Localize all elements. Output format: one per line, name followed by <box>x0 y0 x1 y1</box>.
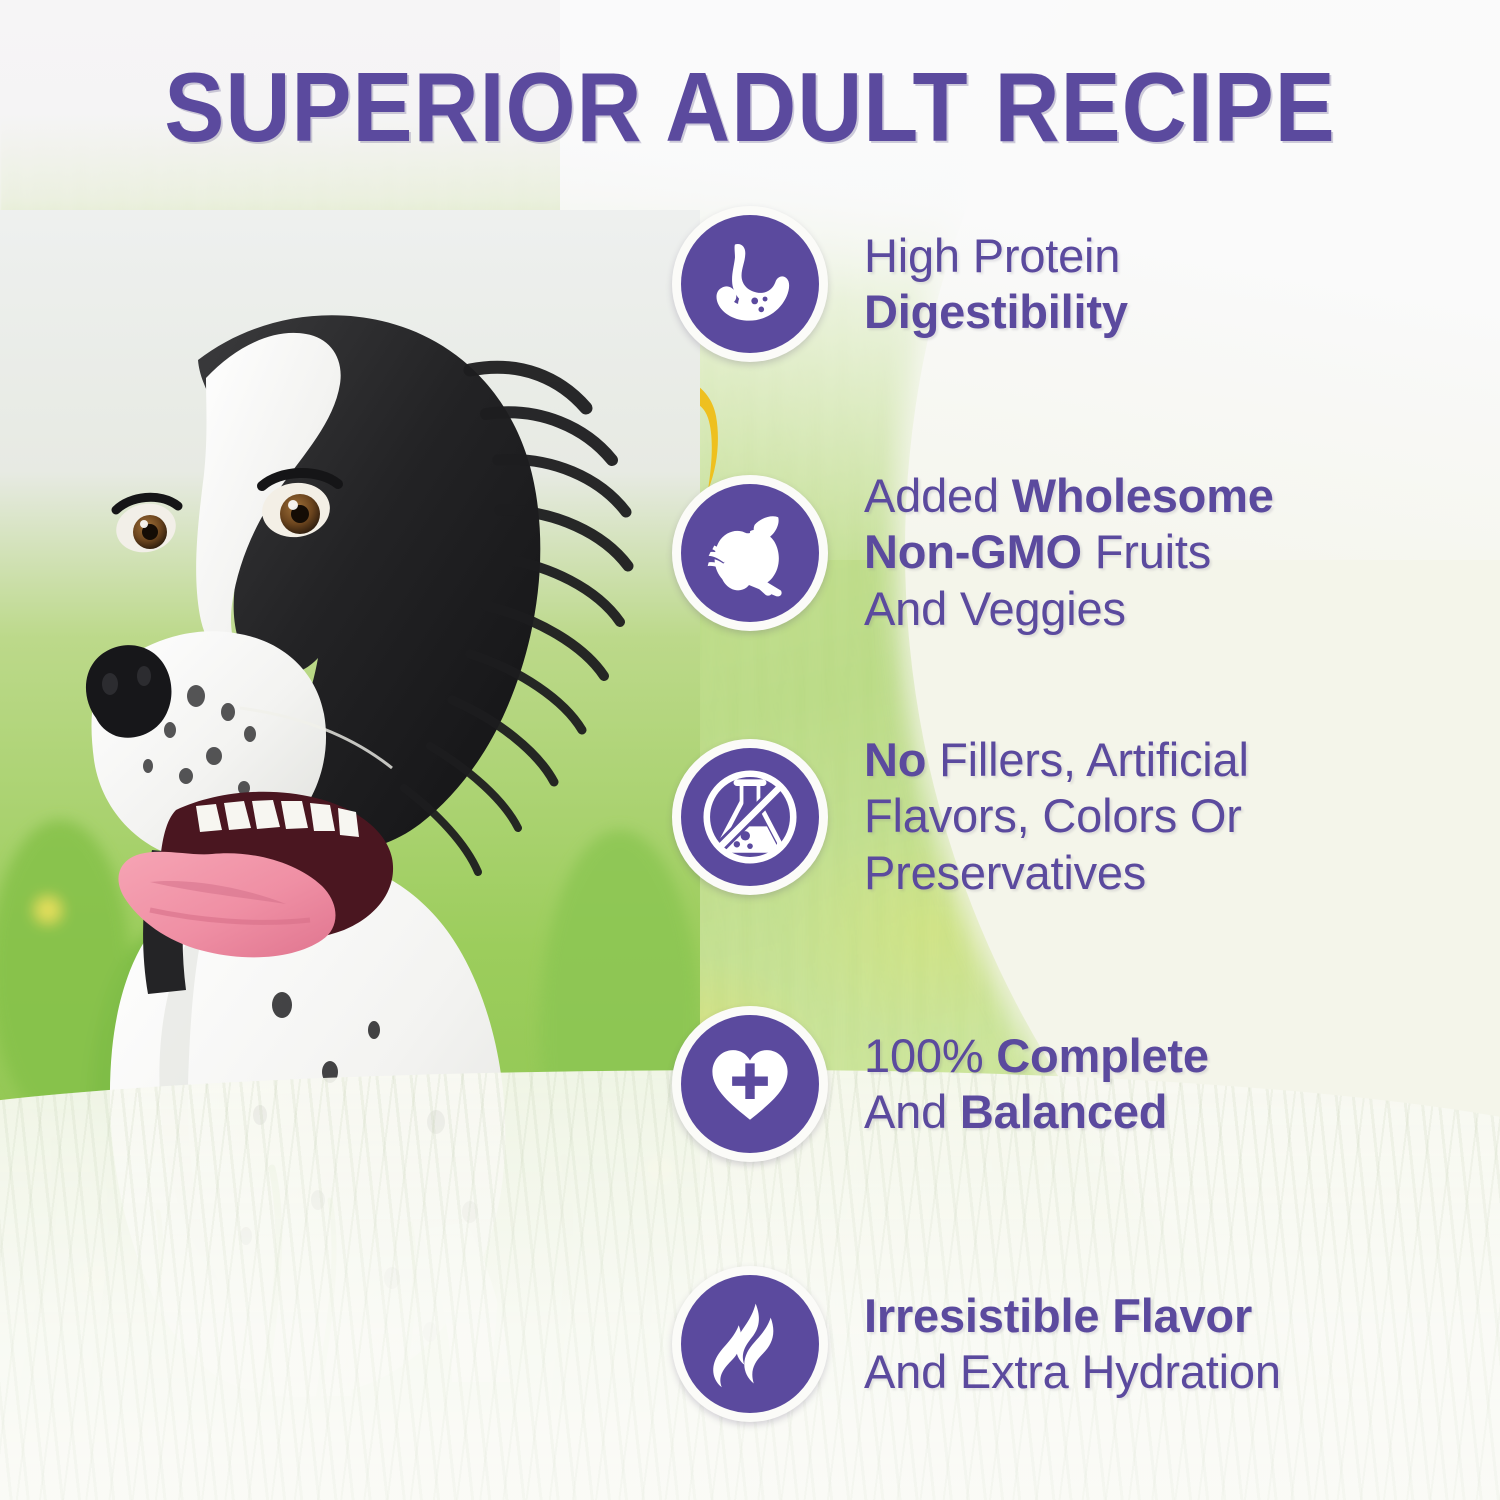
benefit-text: High ProteinDigestibility <box>864 228 1128 341</box>
product-feature-graphic: SUPERIOR ADULT RECIPE High ProteinDigest… <box>0 0 1500 1500</box>
benefit-text: Irresistible FlavorAnd Extra Hydration <box>864 1288 1281 1401</box>
apple-carrot-icon <box>672 475 828 631</box>
flame-swirl-icon <box>672 1266 828 1422</box>
benefit-text: Added WholesomeNon-GMO FruitsAnd Veggies <box>864 468 1274 637</box>
no-flask-icon <box>672 739 828 895</box>
benefit-item-irresistible-flavor: Irresistible FlavorAnd Extra Hydration <box>672 1266 1281 1422</box>
stomach-icon <box>672 206 828 362</box>
benefit-item-non-gmo-fruits-veggies: Added WholesomeNon-GMO FruitsAnd Veggies <box>672 468 1274 637</box>
heart-plus-icon <box>672 1006 828 1162</box>
benefit-text: 100% CompleteAnd Balanced <box>864 1028 1209 1141</box>
benefit-text: No Fillers, ArtificialFlavors, Colors Or… <box>864 732 1249 901</box>
benefit-item-complete-balanced: 100% CompleteAnd Balanced <box>672 1006 1209 1162</box>
benefit-item-high-protein-digestibility: High ProteinDigestibility <box>672 206 1128 362</box>
page-title: SUPERIOR ADULT RECIPE <box>60 58 1440 156</box>
benefit-item-no-fillers: No Fillers, ArtificialFlavors, Colors Or… <box>672 732 1249 901</box>
